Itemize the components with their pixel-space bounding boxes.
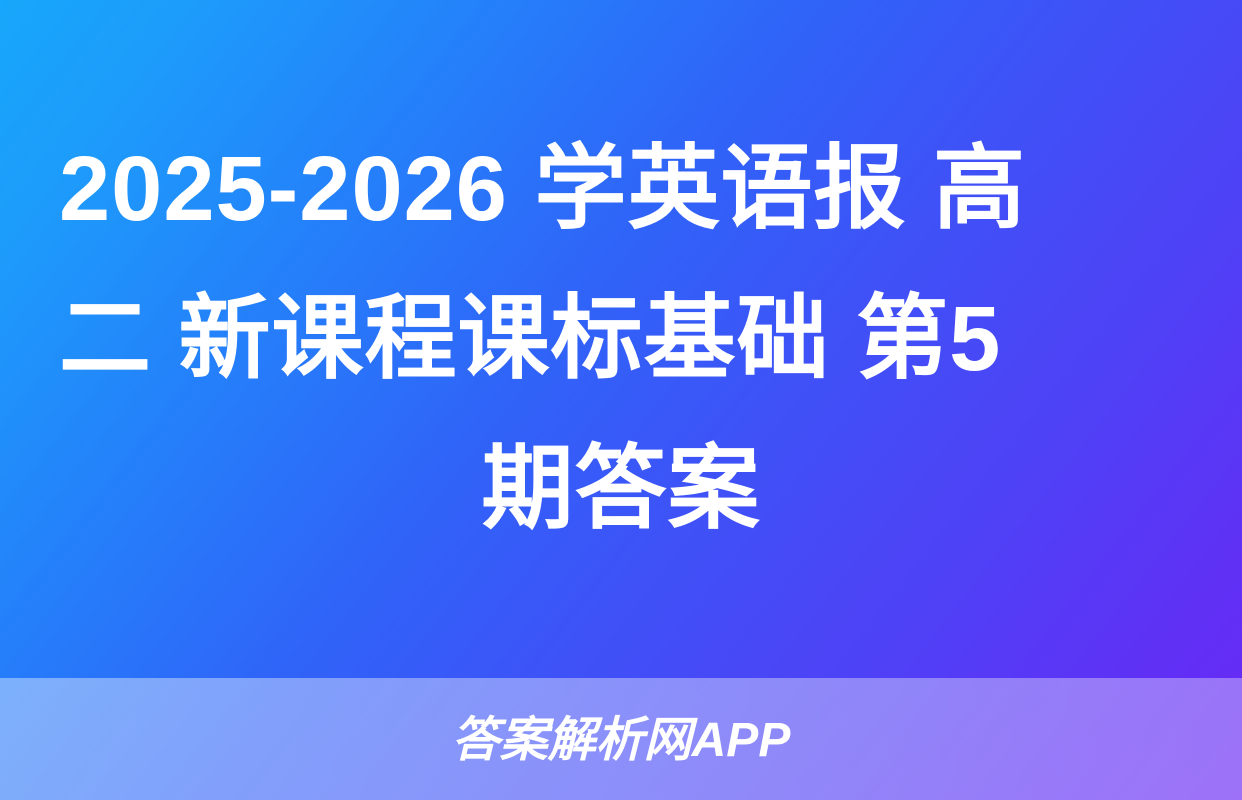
title-line-1: 2025-2026 学英语报 高 bbox=[45, 114, 1197, 264]
answer-banner: 2025-2026 学英语报 高 二 新课程课标基础 第5 期答案 答案解析网A… bbox=[0, 0, 1242, 800]
watermark-band: 答案解析网APP bbox=[0, 678, 1242, 800]
title-line-2: 二 新课程课标基础 第5 bbox=[45, 264, 1197, 414]
title-line-3: 期答案 bbox=[52, 414, 1190, 564]
app-watermark-label: 答案解析网APP bbox=[452, 717, 791, 765]
title-block: 2025-2026 学英语报 高 二 新课程课标基础 第5 期答案 bbox=[0, 0, 1242, 678]
